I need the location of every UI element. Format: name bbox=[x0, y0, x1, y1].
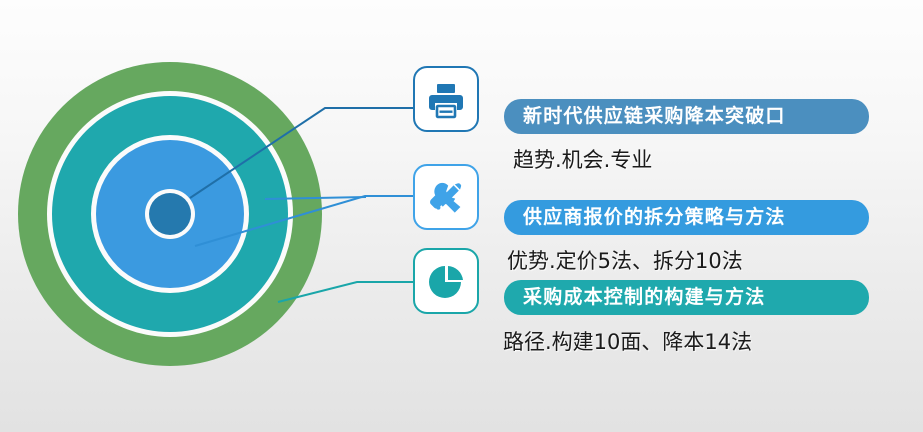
tools-icon bbox=[425, 177, 467, 219]
row-1-title-banner[interactable]: 新时代供应链采购降本突破口 bbox=[504, 99, 869, 134]
target-core-dot bbox=[149, 193, 191, 235]
row-2-subtitle: 优势.定价5法、拆分10法 bbox=[507, 245, 743, 275]
row-3-title-banner[interactable]: 采购成本控制的构建与方法 bbox=[504, 280, 869, 315]
pie-chart-icon-box[interactable] bbox=[413, 248, 479, 314]
printer-icon bbox=[425, 79, 467, 121]
pie-chart-icon bbox=[425, 261, 467, 303]
tools-icon-box[interactable] bbox=[413, 164, 479, 230]
slide-canvas: 新时代供应链采购降本突破口 趋势.机会.专业 供应商报价的拆分策略与方法 优势.… bbox=[0, 0, 923, 432]
concentric-target-diagram bbox=[0, 20, 340, 412]
row-1-subtitle: 趋势.机会.专业 bbox=[513, 144, 652, 174]
row-3-subtitle: 路径.构建10面、降本14法 bbox=[503, 326, 752, 356]
row-2-title-banner[interactable]: 供应商报价的拆分策略与方法 bbox=[504, 200, 869, 235]
printer-icon-box[interactable] bbox=[413, 66, 479, 132]
